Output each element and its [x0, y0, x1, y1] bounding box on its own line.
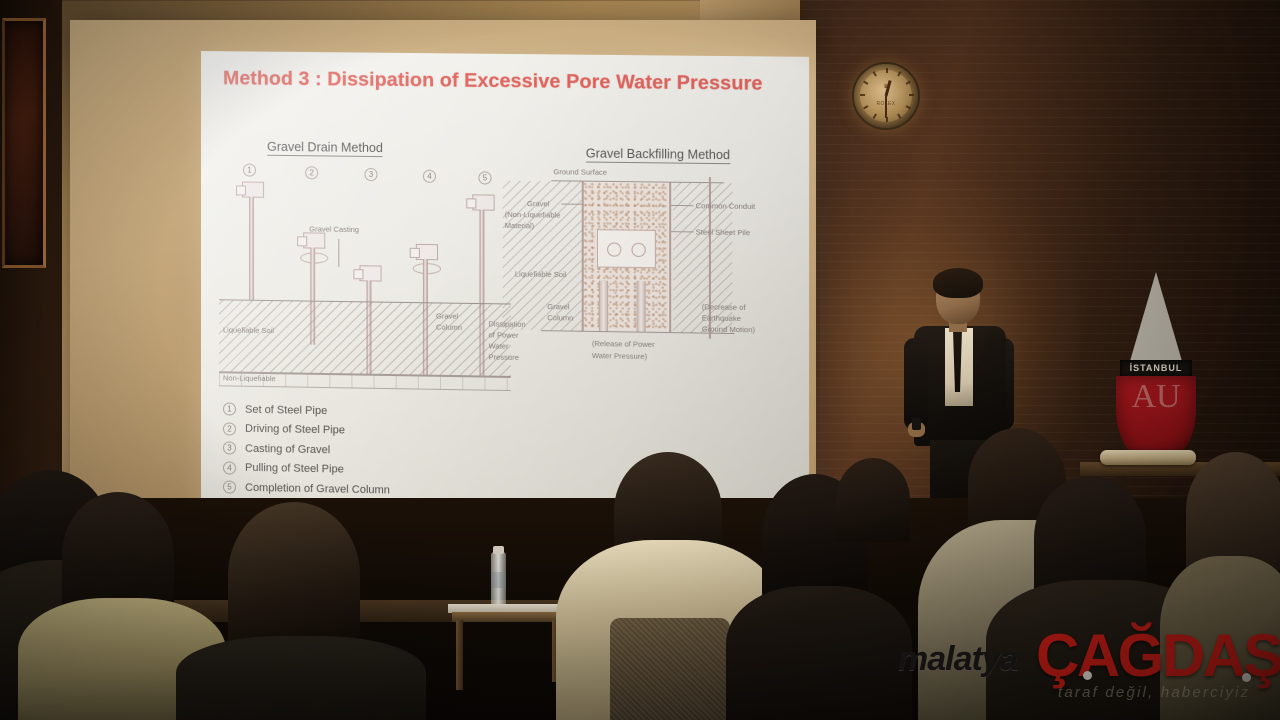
label-release-1: (Release of Power	[592, 339, 655, 350]
label-gravel-3: Material)	[505, 221, 535, 231]
gravel-backfilling-diagram: Ground Surface Gravel (Non-Liquefiable M…	[503, 159, 798, 415]
presentation-slide: Method 3 : Dissipation of Excessive Pore…	[201, 51, 809, 527]
small-table	[452, 612, 564, 622]
label-steel-sheet-pile: Steel Sheet Pile	[696, 227, 750, 237]
wall-clock-icon: ♛ ROLEX	[852, 62, 920, 130]
audience-head	[1186, 452, 1280, 570]
diagram-step-marker-2: 2	[305, 166, 318, 179]
audience-head	[228, 502, 360, 648]
label-gravel-column-1: Gravel	[436, 311, 458, 321]
label-gravel-casting: Gravel Casting	[309, 224, 359, 234]
step-number: 2	[223, 422, 236, 435]
label-gravel-2: (Non-Liquefiable	[505, 210, 561, 220]
step-label: Set of Steel Pipe	[245, 403, 327, 416]
conduit-pipe-1	[607, 242, 621, 256]
projection-screen: Method 3 : Dissipation of Excessive Pore…	[70, 20, 816, 500]
label-common-conduit: Common Conduit	[696, 201, 756, 211]
audience-head	[836, 458, 910, 542]
diagram-step-marker-4: 4	[423, 170, 436, 183]
step-list: 1 Set of Steel Pipe 2 Driving of Steel P…	[223, 399, 555, 503]
audience-body	[176, 636, 426, 720]
watermark-dot	[1083, 671, 1092, 680]
bottle-cap	[493, 546, 504, 554]
speaker-arm-left	[904, 338, 928, 430]
slide-title: Method 3 : Dissipation of Excessive Pore…	[223, 67, 790, 96]
step-number: 3	[223, 442, 236, 455]
gravel-column-left	[599, 281, 608, 332]
university-pennant: İSTANBUL AU	[1108, 272, 1204, 472]
step-number: 5	[223, 481, 236, 494]
diagram-step-marker-1: 1	[243, 163, 256, 176]
clock-minute-hand	[885, 96, 887, 118]
chair-back	[610, 618, 730, 720]
pennant-city-label: İSTANBUL	[1120, 363, 1192, 373]
step-label: Driving of Steel Pipe	[245, 423, 345, 437]
diagram-step-marker-3: 3	[364, 168, 377, 181]
presentation-clicker	[912, 418, 921, 430]
section-heading-left: Gravel Drain Method	[267, 140, 383, 157]
label-gravel-column-right-2: Column	[547, 313, 573, 323]
label-gravel-column-right-1: Gravel	[547, 302, 569, 312]
bottle-label	[491, 572, 506, 588]
watermark-dot	[1242, 673, 1251, 682]
common-conduit-box	[597, 229, 656, 268]
diagram-step-marker-5: 5	[478, 171, 491, 184]
pennant-monogram: AU	[1116, 384, 1196, 410]
watermark-tagline: taraf değil, haberciyiz	[1058, 684, 1250, 701]
screenshot-root: ♛ ROLEX İSTANBUL AU Method 3 : Dissipati…	[0, 0, 1280, 720]
small-table-leg-left	[456, 620, 463, 690]
rolled-certificate	[1100, 450, 1196, 465]
gravel-drain-diagram: 1 2 3 4 5	[219, 163, 511, 393]
label-ground-surface: Ground Surface	[553, 167, 607, 177]
audience-body	[726, 586, 912, 720]
watermark-brand-prefix: malatya	[898, 640, 1018, 679]
label-decrease-2: Earthquake	[702, 313, 741, 323]
step-number: 1	[223, 403, 236, 416]
speaker-hair	[933, 268, 983, 298]
label-gravel-column-2: Column	[436, 323, 462, 333]
label-gravel-1: Gravel	[527, 199, 549, 209]
step-label: Completion of Gravel Column	[245, 482, 390, 497]
conduit-pipe-2	[631, 243, 645, 257]
label-decrease-1: (Decrease of	[702, 302, 746, 312]
label-non-liquefiable: Non-Liquefiable	[223, 373, 276, 383]
step-number: 4	[223, 461, 236, 474]
news-watermark: malatya ÇAĞDAŞ taraf değil, haberciyiz	[898, 628, 1270, 708]
framed-picture	[2, 18, 46, 268]
label-release-2: Water Pressure)	[592, 351, 647, 361]
step-label: Pulling of Steel Pipe	[245, 462, 344, 476]
label-liquefiable-soil: Liquefiable Soil	[223, 325, 274, 335]
label-decrease-3: Ground Motion)	[702, 324, 755, 334]
label-liquefiable-soil-right: Liquefiable Soil	[515, 269, 567, 279]
pennant-cone	[1128, 272, 1184, 368]
liquefiable-soil-hatch	[219, 300, 511, 377]
gravel-column-right	[637, 281, 646, 332]
step-label: Casting of Gravel	[245, 443, 330, 457]
